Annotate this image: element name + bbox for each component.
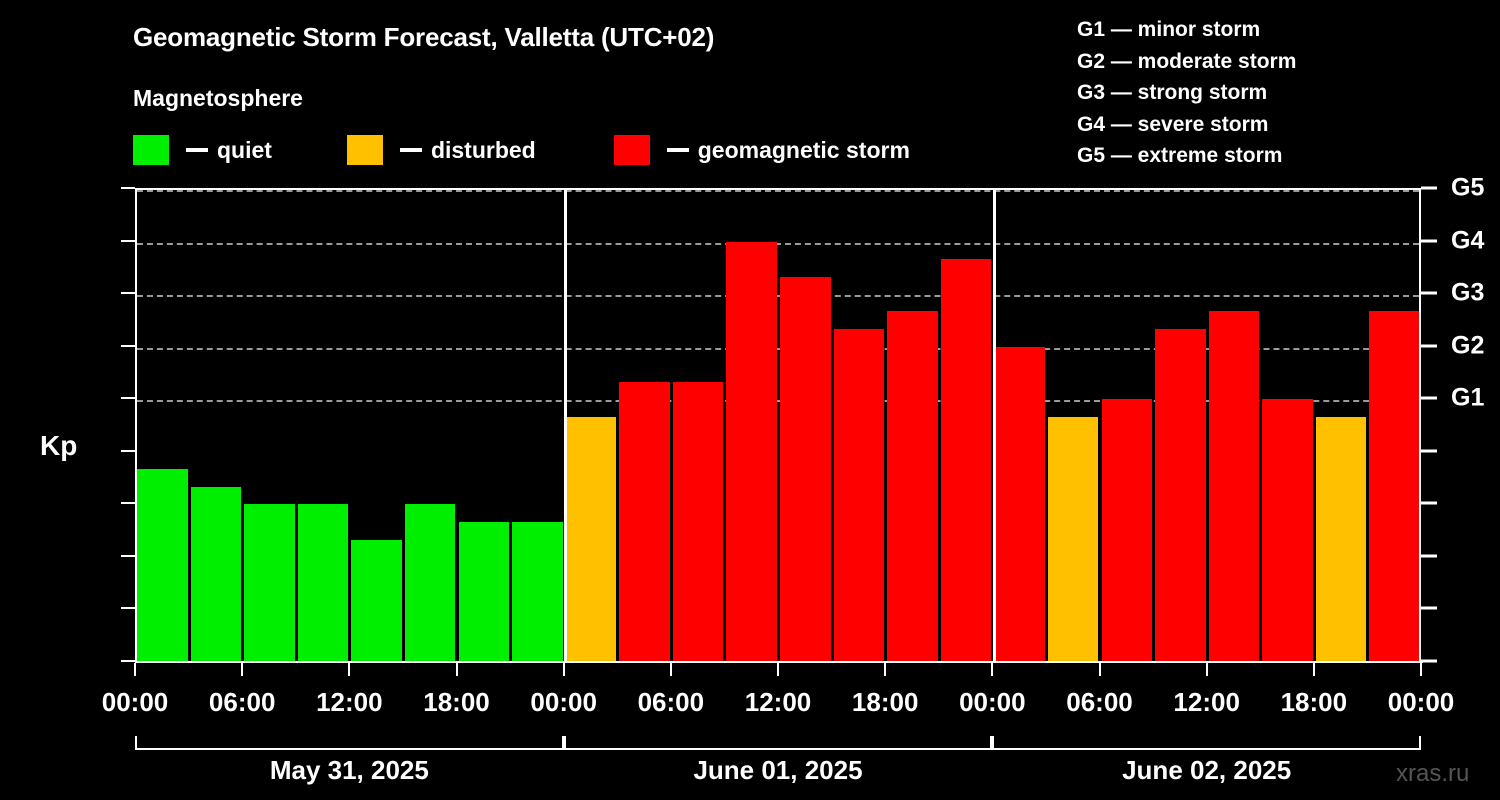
day-divider — [564, 190, 567, 662]
bar — [1369, 311, 1420, 662]
bar — [673, 382, 724, 662]
legend-dash-icon — [186, 148, 208, 152]
x-tick-label: 00:00 — [959, 687, 1026, 718]
legend-label-storm: geomagnetic storm — [698, 137, 910, 164]
watermark: xras.ru — [1396, 760, 1469, 788]
g-axis-minor-tick-2 — [1421, 554, 1437, 557]
x-tick-mark — [348, 663, 350, 676]
g-tick-mark-g5 — [1421, 187, 1437, 190]
x-tick-label: 00:00 — [102, 687, 169, 718]
gscale-row-g2: G2 — moderate storm — [1077, 46, 1296, 78]
gscale-row-g4: G4 — severe storm — [1077, 109, 1296, 141]
g-axis-minor-tick-0 — [1421, 660, 1437, 663]
x-tick-label: 12:00 — [1173, 687, 1240, 718]
x-tick-mark — [1420, 663, 1422, 676]
g-axis-minor-tick-1 — [1421, 607, 1437, 610]
x-tick-mark — [670, 663, 672, 676]
x-tick-label: 00:00 — [530, 687, 597, 718]
y-tick-mark-2 — [121, 555, 135, 557]
g-axis-minor-tick-3 — [1421, 502, 1437, 505]
x-tick-mark — [1099, 663, 1101, 676]
x-tick-mark — [1206, 663, 1208, 676]
x-tick-mark — [456, 663, 458, 676]
y-tick-mark-7 — [121, 292, 135, 294]
bar — [887, 311, 938, 662]
gscale-legend: G1 — minor storm G2 — moderate storm G3 … — [1077, 14, 1296, 172]
x-tick-label: 12:00 — [745, 687, 812, 718]
x-tick-mark — [991, 663, 993, 676]
day-bracket — [992, 736, 1421, 750]
y-tick-mark-6 — [121, 345, 135, 347]
bar — [512, 522, 563, 662]
bar — [405, 504, 456, 662]
x-tick-mark — [241, 663, 243, 676]
bar — [1316, 417, 1367, 662]
y-tick-mark-8 — [121, 240, 135, 242]
page-title: Geomagnetic Storm Forecast, Valletta (UT… — [133, 22, 714, 53]
legend-dash-icon — [667, 148, 689, 152]
legend-label-disturbed: disturbed — [431, 137, 536, 164]
legend-heading: Magnetosphere — [133, 85, 303, 112]
x-tick-label: 12:00 — [316, 687, 383, 718]
bar — [994, 347, 1045, 662]
bar — [1102, 399, 1153, 662]
g-tick-mark-g3 — [1421, 292, 1437, 295]
bar — [137, 469, 188, 662]
legend-entry-storm: geomagnetic storm — [614, 135, 910, 165]
g-tick-mark-g4 — [1421, 239, 1437, 242]
bars-layer — [137, 190, 1419, 662]
x-tick-label: 18:00 — [852, 687, 919, 718]
bar — [566, 417, 617, 662]
day-label: June 01, 2025 — [693, 755, 862, 786]
legend-label-quiet: quiet — [217, 137, 272, 164]
g-tick-label-g2: G2 — [1451, 331, 1484, 360]
g-tick-mark-g1 — [1421, 397, 1437, 400]
bar — [244, 504, 295, 662]
legend-entry-disturbed: disturbed — [347, 135, 536, 165]
day-label: June 02, 2025 — [1122, 755, 1291, 786]
y-axis-title: Kp — [40, 430, 77, 462]
day-label: May 31, 2025 — [270, 755, 429, 786]
bar — [834, 329, 885, 662]
x-tick-mark — [134, 663, 136, 676]
x-tick-mark — [777, 663, 779, 676]
gscale-row-g3: G3 — strong storm — [1077, 77, 1296, 109]
storm-swatch-icon — [614, 135, 650, 165]
x-tick-mark — [884, 663, 886, 676]
y-tick-mark-1 — [121, 607, 135, 609]
x-tick-label: 06:00 — [209, 687, 276, 718]
day-bracket — [135, 736, 564, 750]
g-tick-label-g1: G1 — [1451, 384, 1484, 413]
bar — [941, 259, 992, 662]
gscale-row-g1: G1 — minor storm — [1077, 14, 1296, 46]
g-tick-label-g4: G4 — [1451, 226, 1484, 255]
bar — [298, 504, 349, 662]
bar — [1262, 399, 1313, 662]
x-tick-label: 00:00 — [1388, 687, 1455, 718]
bar — [1048, 417, 1099, 662]
bar — [1209, 311, 1260, 662]
y-tick-mark-9 — [121, 187, 135, 189]
bar — [780, 277, 831, 662]
x-tick-label: 18:00 — [423, 687, 490, 718]
x-tick-label: 18:00 — [1281, 687, 1348, 718]
day-divider — [993, 190, 996, 662]
g-tick-mark-g2 — [1421, 344, 1437, 347]
bar — [191, 487, 242, 662]
gscale-row-g5: G5 — extreme storm — [1077, 140, 1296, 172]
bar — [726, 242, 777, 662]
bar — [1155, 329, 1206, 662]
x-axis-line — [135, 661, 1423, 663]
legend-dash-icon — [400, 148, 422, 152]
day-bracket — [564, 736, 993, 750]
legend-entry-quiet: quiet — [133, 135, 272, 165]
quiet-swatch-icon — [133, 135, 169, 165]
bar — [619, 382, 670, 662]
plot-area — [135, 188, 1421, 662]
y-tick-mark-4 — [121, 450, 135, 452]
g-axis-minor-tick-4 — [1421, 449, 1437, 452]
bar — [351, 540, 402, 662]
x-tick-mark — [1313, 663, 1315, 676]
y-tick-mark-3 — [121, 502, 135, 504]
g-tick-label-g5: G5 — [1451, 174, 1484, 203]
color-legend: quiet disturbed geomagnetic storm — [133, 134, 910, 166]
disturbed-swatch-icon — [347, 135, 383, 165]
y-tick-mark-5 — [121, 397, 135, 399]
g-tick-label-g3: G3 — [1451, 279, 1484, 308]
x-tick-label: 06:00 — [1066, 687, 1133, 718]
y-tick-mark-0 — [121, 660, 135, 662]
x-tick-mark — [563, 663, 565, 676]
x-tick-label: 06:00 — [638, 687, 705, 718]
bar — [459, 522, 510, 662]
